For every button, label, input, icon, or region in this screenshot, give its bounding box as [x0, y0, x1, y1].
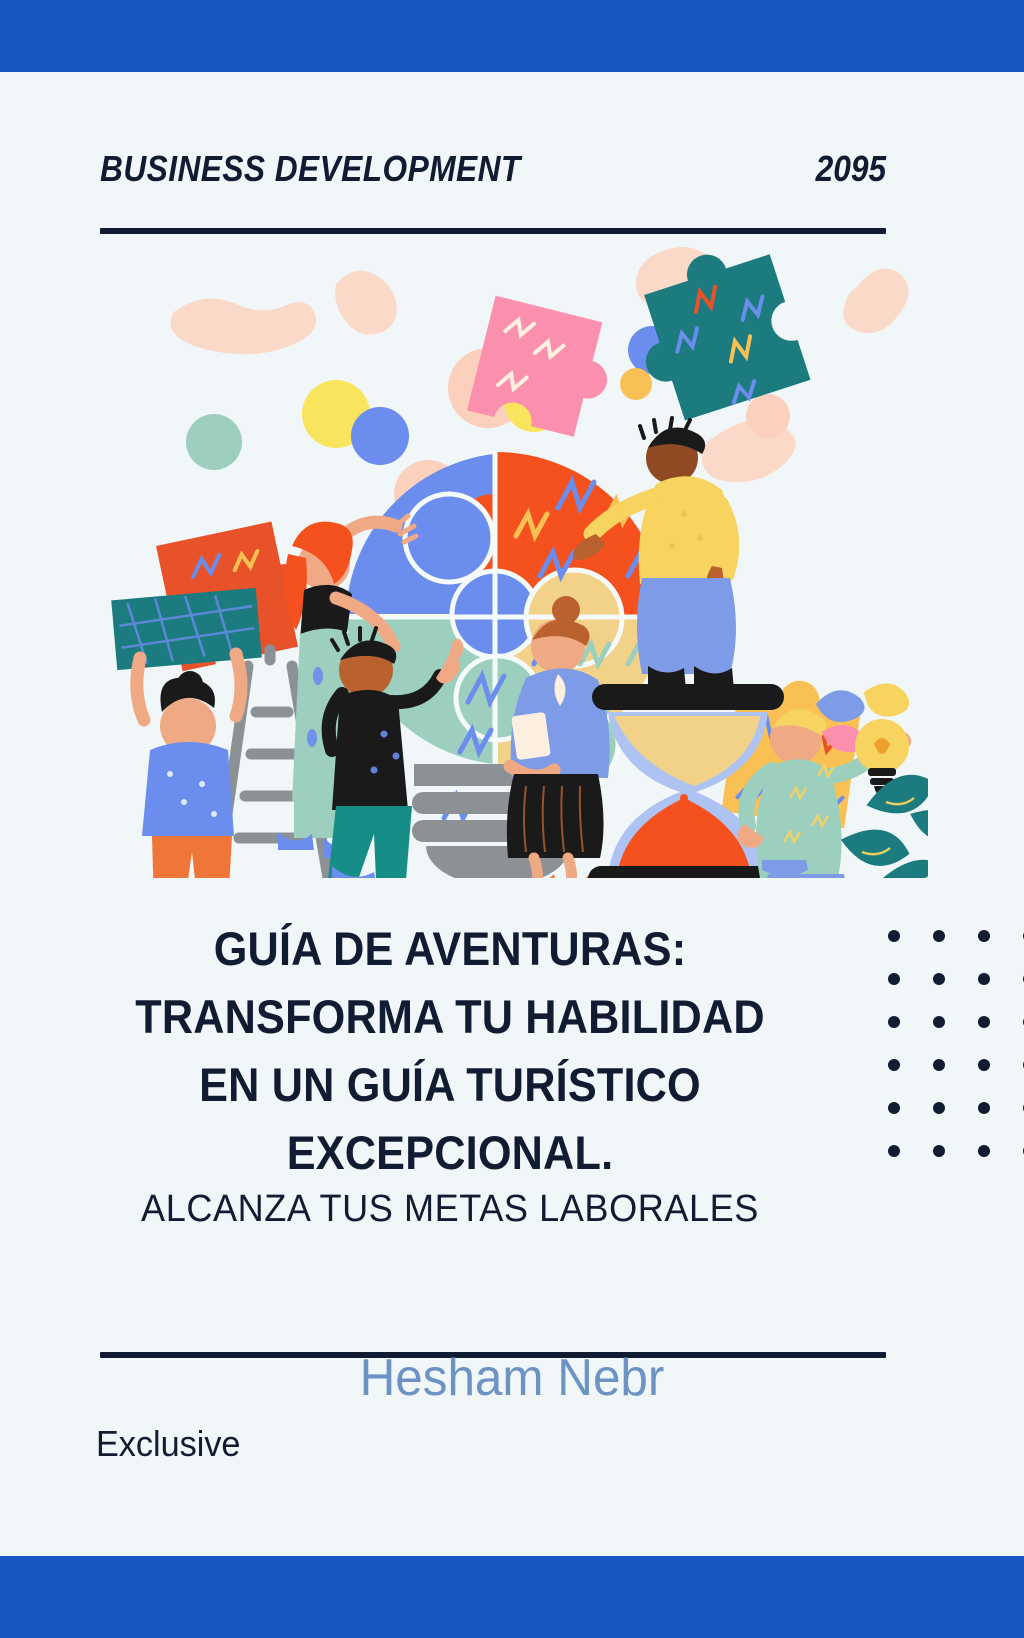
dot-grid-decoration	[888, 930, 1024, 1160]
cover-illustration	[96, 246, 928, 878]
book-cover: BUSINESS DEVELOPMENT 2095	[0, 0, 1024, 1638]
bottom-color-band	[0, 1556, 1024, 1638]
book-subtitle: ALCANZA TUS METAS LABORALES	[118, 1188, 783, 1231]
author-name: Hesham Nebr	[26, 1348, 999, 1408]
cover-header: BUSINESS DEVELOPMENT 2095	[100, 148, 886, 190]
imprint-label: Exclusive	[96, 1423, 240, 1465]
book-title: GUÍA DE AVENTURAS: TRANSFORMA TU HABILID…	[128, 915, 772, 1187]
header-divider	[100, 228, 886, 234]
category-label: BUSINESS DEVELOPMENT	[100, 148, 521, 190]
top-color-band	[0, 0, 1024, 72]
year-label: 2095	[816, 148, 886, 190]
